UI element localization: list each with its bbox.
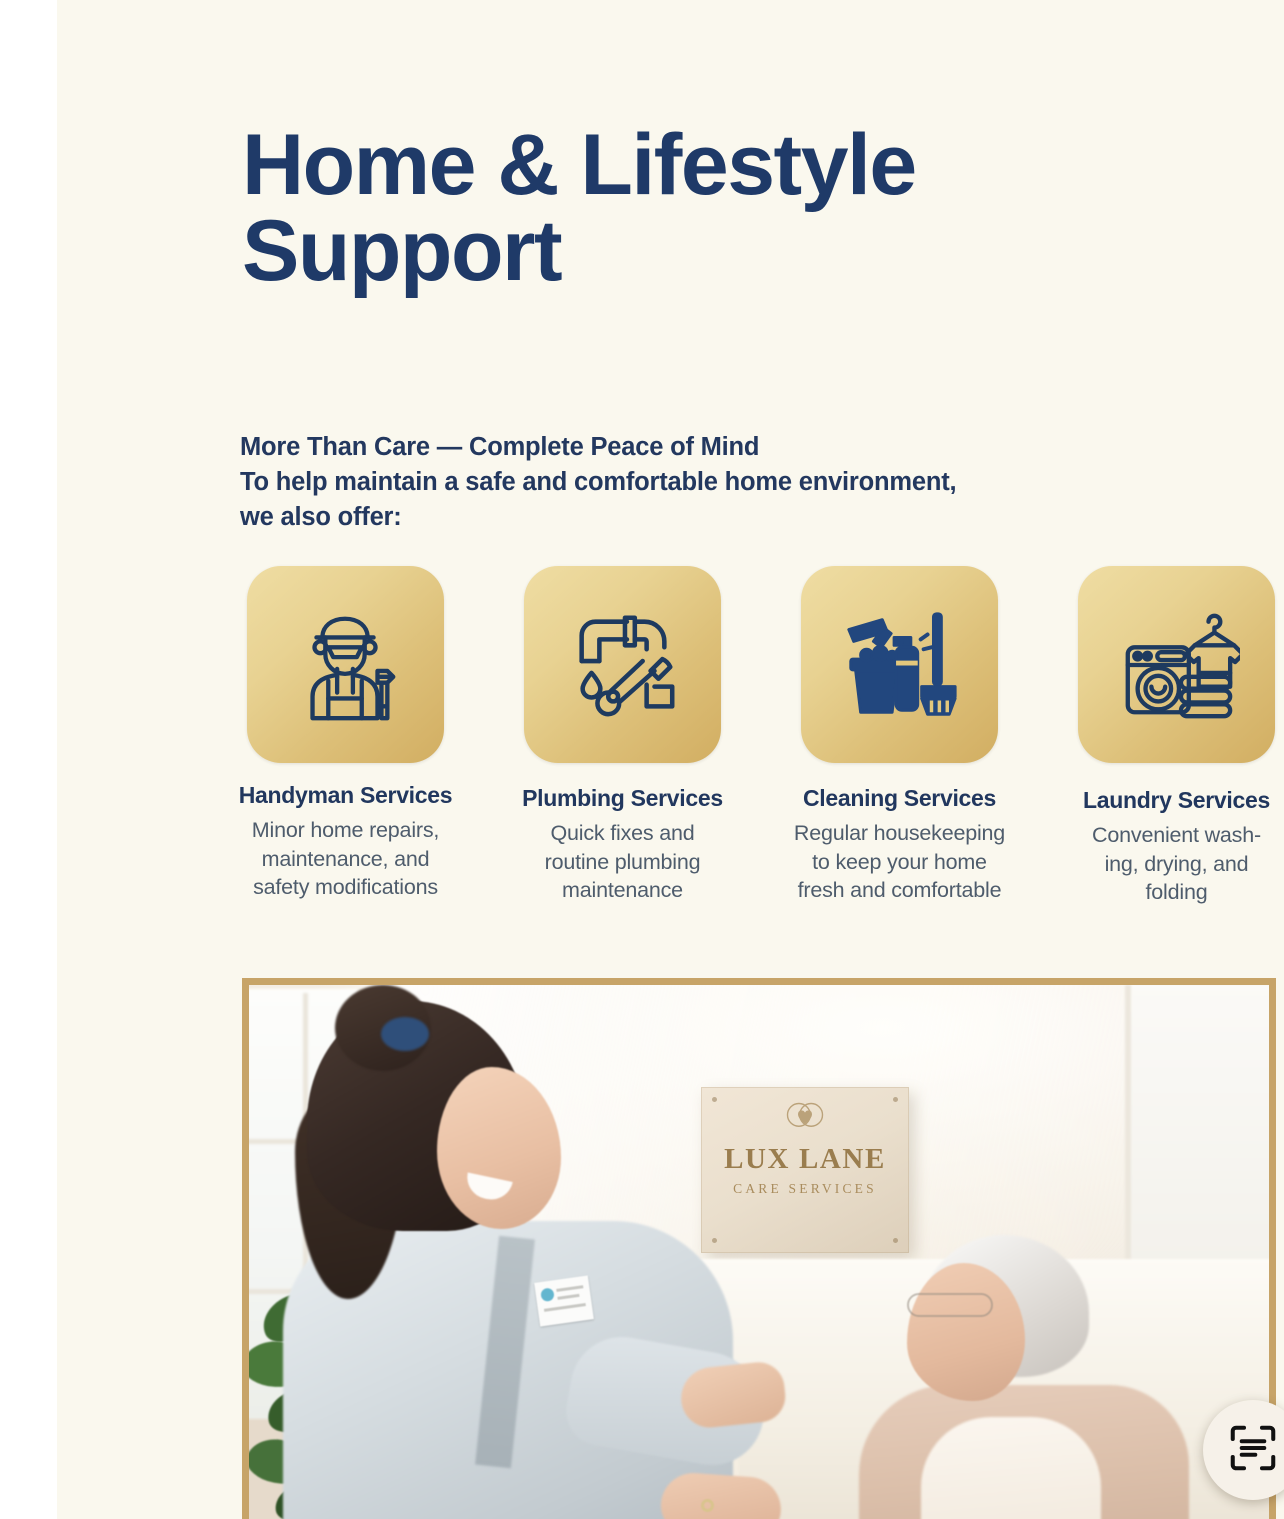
staff-name-badge <box>534 1275 594 1326</box>
caregiver-photo: LUX LANE CARE SERVICES <box>249 985 1269 1519</box>
photo-frame: LUX LANE CARE SERVICES <box>242 978 1276 1519</box>
service-card-plumbing[interactable]: Plumbing Services Quick fixes and routin… <box>484 566 761 905</box>
service-icon-tile <box>1078 566 1275 763</box>
service-description: Convenient wash- ing, drying, and foldin… <box>1092 821 1261 907</box>
service-card-cleaning[interactable]: Cleaning Services Regular housekeeping t… <box>761 566 1038 905</box>
cleaning-bucket-spray-broom-icon <box>837 602 963 728</box>
heart-in-circle-logo <box>784 1100 826 1134</box>
page-title: Home & Lifestyle Support <box>242 122 1242 294</box>
poster-sheet: Home & Lifestyle Support More Than Care … <box>57 0 1284 1519</box>
laundry-washer-shirt-towels-icon <box>1114 602 1240 728</box>
service-card-handyman[interactable]: Handyman Services Minor home repairs, ma… <box>207 566 484 902</box>
service-title: Handyman Services <box>239 782 453 808</box>
service-description: Minor home repairs, maintenance, and saf… <box>252 816 439 902</box>
service-description: Regular housekeeping to keep your home f… <box>794 819 1005 905</box>
service-title: Plumbing Services <box>522 785 723 811</box>
service-icon-tile <box>247 566 444 763</box>
page-subtitle: More Than Care — Complete Peace of Mind … <box>240 430 1100 535</box>
screenshot-root: Home & Lifestyle Support More Than Care … <box>0 0 1284 1519</box>
elderly-client-figure <box>869 1235 1239 1519</box>
service-title: Laundry Services <box>1083 787 1270 813</box>
service-icon-tile <box>524 566 721 763</box>
caregiver-figure <box>269 993 769 1519</box>
service-description: Quick fixes and routine plumbing mainten… <box>545 819 701 905</box>
service-icon-tile <box>801 566 998 763</box>
scan-text-icon <box>1226 1421 1280 1480</box>
service-title: Cleaning Services <box>803 785 996 811</box>
handyman-worker-hammer-icon <box>283 602 409 728</box>
services-row: Handyman Services Minor home repairs, ma… <box>207 566 1284 907</box>
service-card-laundry[interactable]: Laundry Services Convenient wash- ing, d… <box>1038 566 1284 907</box>
plumbing-pipe-wrench-drip-icon <box>560 602 686 728</box>
